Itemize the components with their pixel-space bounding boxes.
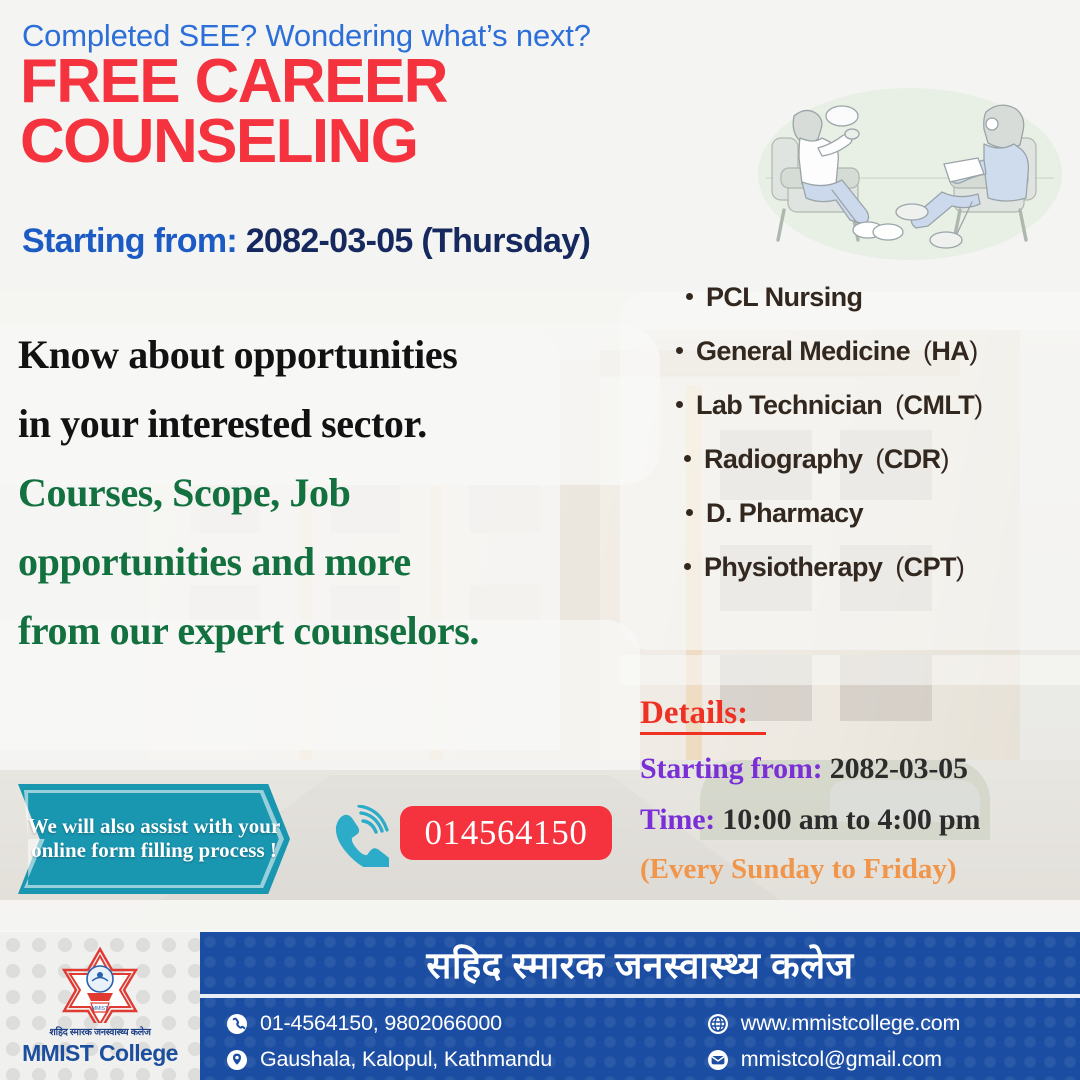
college-logo-panel: MMIST शहिद स्मारक जनस्वास्थ्य कलेज MMIST… [0, 932, 200, 1080]
course-abbr-text: CPT [904, 552, 956, 582]
course-name: Physiotherapy [704, 552, 882, 583]
bullet-icon [686, 293, 693, 300]
location-pin-icon [226, 1049, 248, 1071]
course-abbr: (HA) [923, 336, 978, 367]
paragraph-line: in your interested sector. [18, 404, 648, 444]
bullet-icon [676, 347, 683, 354]
course-abbr-text: CDR [884, 444, 941, 474]
course-abbr: (CMLT) [895, 390, 982, 421]
footer-contact-left: 01-4564150, 9802066000 Gaushala, Kalopul… [200, 1011, 693, 1072]
footer-website-item[interactable]: www.mmistcollege.com [707, 1011, 960, 1036]
phone-icon [226, 1013, 248, 1035]
list-item: Lab Technician (CMLT) [676, 390, 1080, 421]
paragraph-line: opportunities and more [18, 542, 648, 582]
footer-email-item[interactable]: mmistcol@gmail.com [707, 1047, 960, 1072]
phone-number-badge[interactable]: 014564150 [400, 806, 612, 860]
footer-address-item: Gaushala, Kalopul, Kathmandu [226, 1047, 693, 1072]
footer-email-text: mmistcol@gmail.com [741, 1047, 942, 1072]
paragraph-line: Know about opportunities [18, 335, 648, 375]
course-name: Lab Technician [696, 390, 882, 421]
svg-text:MMIST: MMIST [92, 1006, 108, 1012]
headline-line-1: FREE CAREER [20, 52, 447, 112]
photo-veil-strip [0, 900, 1080, 932]
details-heading: Details: [640, 696, 766, 735]
career-counseling-illustration [748, 82, 1068, 272]
details-time-label: Time: [640, 803, 715, 836]
footer-contact-right: www.mmistcollege.com mmistcol@gmail.com [693, 1011, 960, 1072]
course-name: General Medicine [696, 336, 910, 367]
footer-website-text: www.mmistcollege.com [741, 1011, 960, 1036]
details-time-row: Time: 10:00 am to 4:00 pm [640, 803, 1080, 837]
logo-nepali-text: शहिद स्मारक जनस्वास्थ्य कलेज [49, 1025, 150, 1038]
list-item: General Medicine (HA) [676, 336, 1080, 367]
poster-canvas: Completed SEE? Wondering what’s next? FR… [0, 0, 1080, 1080]
footer: MMIST शहिद स्मारक जनस्वास्थ्य कलेज MMIST… [0, 932, 1080, 1080]
list-item: D. Pharmacy [676, 498, 1080, 529]
course-abbr-text: CMLT [904, 390, 975, 420]
footer-contact-block: 01-4564150, 9802066000 Gaushala, Kalopul… [200, 998, 1080, 1072]
globe-icon [707, 1013, 729, 1035]
paragraph-line: from our expert counselors. [18, 611, 648, 651]
list-item: Physiotherapy (CPT) [676, 552, 1080, 583]
list-item: PCL Nursing [676, 282, 1080, 313]
envelope-icon [707, 1049, 729, 1071]
details-start-label: Starting from: [640, 752, 822, 785]
details-start-row: Starting from: 2082-03-05 [640, 752, 1080, 786]
college-emblem-icon: MMIST [59, 945, 141, 1023]
details-note: (Every Sunday to Friday) [640, 853, 1080, 886]
phone-ringing-icon [327, 805, 389, 867]
bullet-icon [684, 563, 691, 570]
details-start-value: 2082-03-05 [830, 752, 968, 785]
footer-main: सहिद स्मारक जनस्वास्थ्य कलेज 01-4564150,… [200, 932, 1080, 1080]
headline-line-2: COUNSELING [20, 112, 447, 172]
start-date-line: Starting from: 2082-03-05 (Thursday) [22, 222, 590, 261]
footer-phone-item[interactable]: 01-4564150, 9802066000 [226, 1011, 693, 1036]
bullet-icon [686, 509, 693, 516]
details-time-value: 10:00 am to 4:00 pm [722, 803, 980, 836]
footer-college-title: सहिद स्मारक जनस्वास्थ्य कलेज [200, 932, 1080, 994]
photo-veil-right-bottom [620, 655, 1080, 685]
bullet-icon [684, 455, 691, 462]
course-abbr: (CDR) [875, 444, 949, 475]
list-item: Radiography (CDR) [676, 444, 1080, 475]
intro-paragraph: Know about opportunities in your interes… [18, 335, 648, 680]
course-name: D. Pharmacy [706, 498, 863, 529]
course-abbr: (CPT) [895, 552, 964, 583]
footer-phone-text: 01-4564150, 9802066000 [260, 1011, 502, 1036]
bullet-icon [676, 401, 683, 408]
page-title: FREE CAREER COUNSELING [20, 52, 447, 172]
start-date-label: Starting from: [22, 222, 237, 260]
course-name: PCL Nursing [706, 282, 862, 313]
start-date-value: 2082-03-05 (Thursday) [246, 222, 590, 260]
course-list: PCL Nursing General Medicine (HA) Lab Te… [676, 282, 1080, 606]
logo-english-text: MMIST College [22, 1040, 178, 1067]
footer-address-text: Gaushala, Kalopul, Kathmandu [260, 1047, 552, 1072]
course-name: Radiography [704, 444, 862, 475]
assist-ribbon-text: We will also assist with your online for… [18, 784, 290, 894]
paragraph-line: Courses, Scope, Job [18, 473, 648, 513]
details-section: Details: Starting from: 2082-03-05 Time:… [640, 696, 1080, 886]
course-abbr-text: HA [931, 336, 969, 366]
